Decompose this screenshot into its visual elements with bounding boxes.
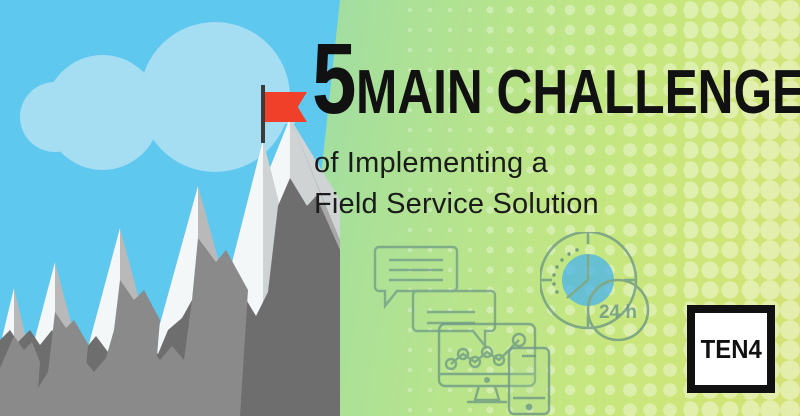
logo[interactable]: TEN4 — [687, 305, 775, 393]
monitor-analytics-icon — [437, 322, 567, 416]
clock-badge-label: 24 h — [599, 302, 637, 323]
mountain-icon — [0, 0, 340, 416]
subtitle-line-2: Field Service Solution — [314, 184, 599, 225]
subtitle: of Implementing a Field Service Solution — [314, 143, 599, 225]
smartphone-icon — [509, 348, 549, 414]
flag-pole-icon — [261, 85, 265, 143]
logo-text: TEN4 — [700, 334, 761, 365]
subtitle-line-1: of Implementing a — [314, 143, 599, 184]
logo-inner-box: TEN4 — [695, 313, 767, 385]
promo-banner: 24 h — [0, 0, 800, 416]
headline-number: 5 — [312, 38, 355, 120]
headline-words: MAIN CHALLENGES — [356, 68, 800, 119]
page-title: 5 MAIN CHALLENGES — [312, 38, 800, 120]
